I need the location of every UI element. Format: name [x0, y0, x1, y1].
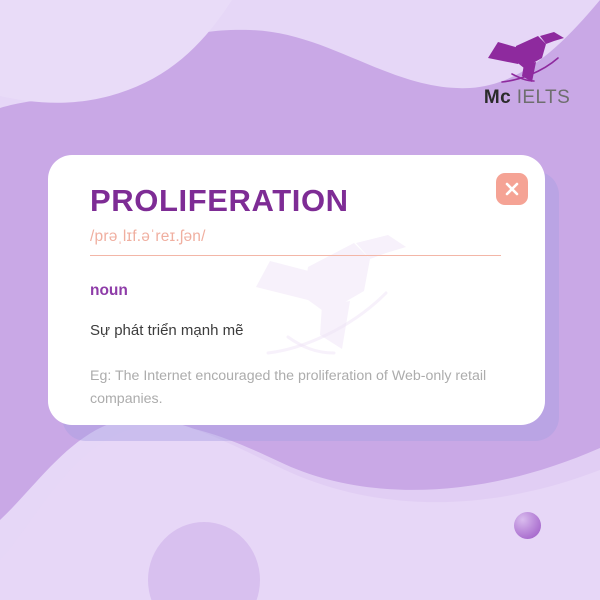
close-button[interactable]	[496, 173, 528, 205]
brand-name-light: IELTS	[517, 87, 570, 108]
phonetic-transcription: /prəˌlɪf.əˈreɪ.ʃən/	[90, 228, 503, 246]
card-content: PROLIFERATION /prəˌlɪf.əˈreɪ.ʃən/ noun S…	[48, 155, 545, 425]
part-of-speech: noun	[90, 282, 503, 300]
gradient-sphere	[514, 512, 541, 539]
origami-bird-icon	[468, 24, 586, 86]
divider	[90, 255, 501, 256]
brand-logo: Mc IELTS	[468, 24, 586, 116]
word-meaning: Sự phát triển mạnh mẽ	[90, 322, 503, 339]
vocabulary-card: PROLIFERATION /prəˌlɪf.əˈreɪ.ʃən/ noun S…	[48, 155, 545, 425]
brand-name: Mc IELTS	[468, 88, 586, 107]
brand-name-bold: Mc	[484, 87, 511, 108]
example-sentence: Eg: The Internet encouraged the prolifer…	[90, 365, 520, 411]
close-icon	[496, 173, 528, 205]
word-title: PROLIFERATION	[90, 185, 503, 218]
poster-canvas: Mc IELTS PROLIFERATION /prəˌlɪf.əˈreɪ.ʃə…	[0, 0, 600, 600]
